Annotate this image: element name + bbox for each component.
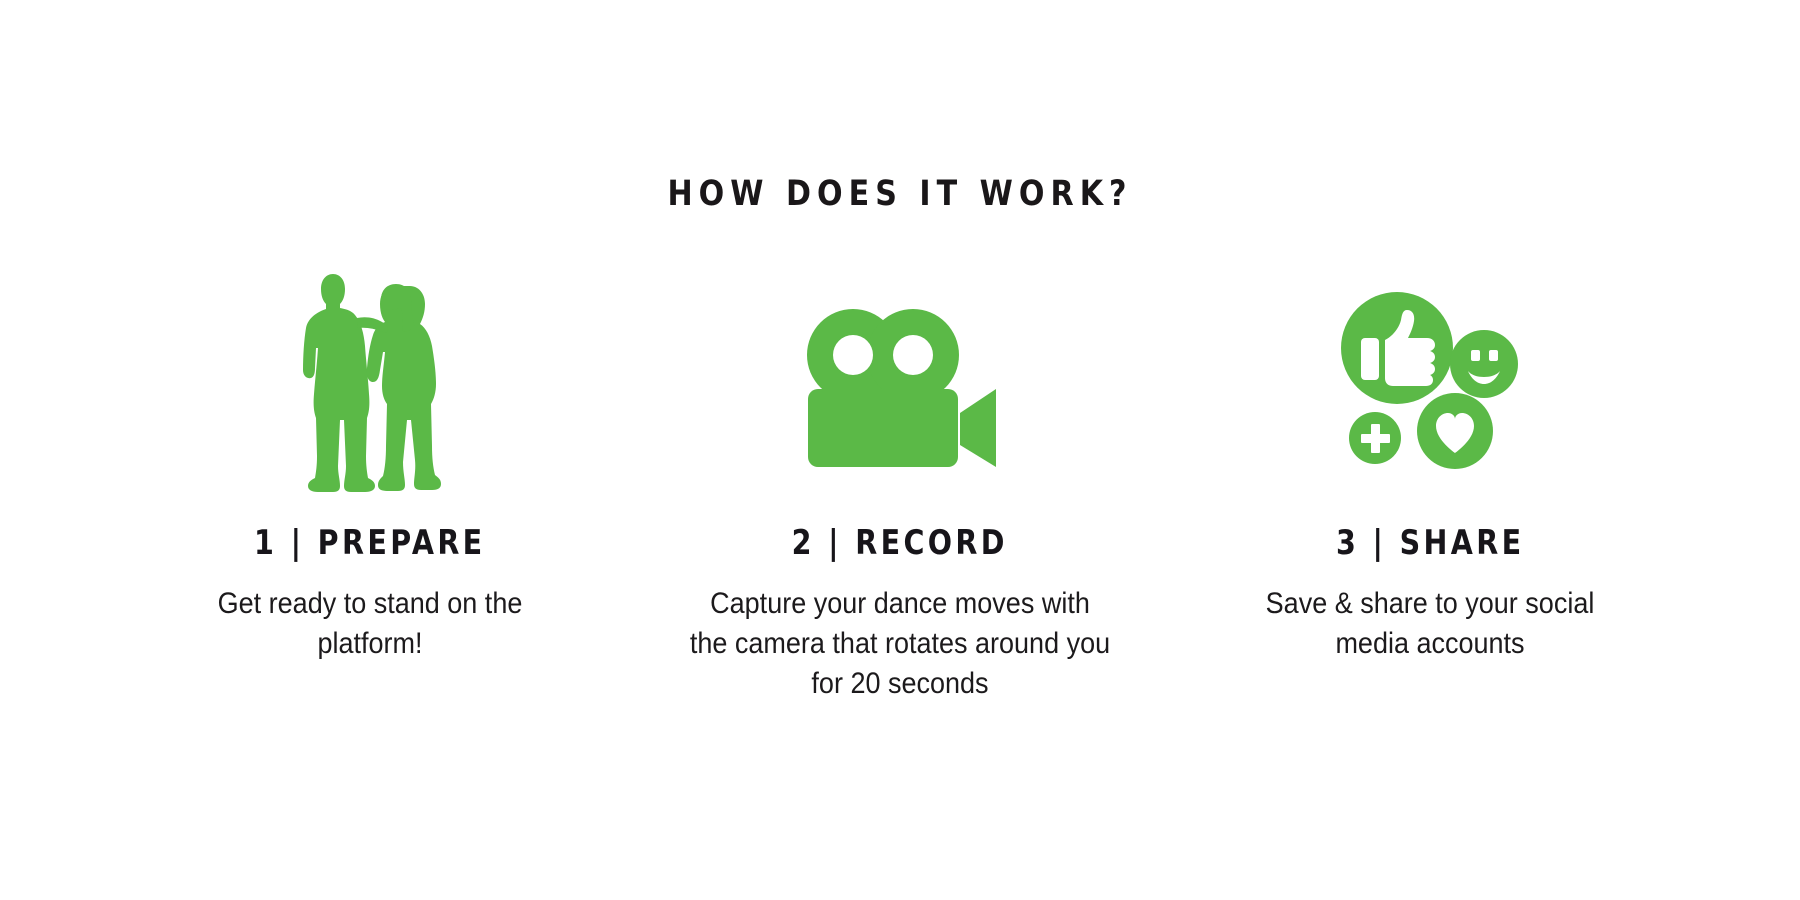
step-3-heading: 3 | SHARE: [1336, 522, 1525, 564]
step-3-body: Save & share to your social media accoun…: [1255, 584, 1606, 664]
step-card-prepare: 1 | PREPARE Get ready to stand on the pl…: [110, 250, 630, 664]
step-2-icon-area: [640, 250, 1160, 500]
social-reactions-icon: [1335, 288, 1525, 478]
couple-silhouette-icon: [295, 260, 445, 500]
step-card-record: 2 | RECORD Capture your dance moves with…: [640, 250, 1160, 704]
how-it-works-section: HOW DOES IT WORK? 1 |: [0, 0, 1800, 900]
step-1-icon-area: [110, 250, 630, 500]
plus-icon: [1349, 412, 1401, 464]
thumbs-up-icon: [1341, 292, 1453, 404]
smiley-face-icon: [1450, 330, 1518, 398]
step-3-icon-area: [1170, 250, 1690, 500]
step-card-share: 3 | SHARE Save & share to your social me…: [1170, 250, 1690, 664]
video-camera-icon: [800, 305, 1000, 470]
step-2-body: Capture your dance moves with the camera…: [689, 584, 1112, 704]
step-1-body: Get ready to stand on the platform!: [195, 584, 546, 664]
page-title: HOW DOES IT WORK?: [126, 172, 1674, 216]
steps-row: 1 | PREPARE Get ready to stand on the pl…: [110, 250, 1690, 704]
step-2-heading: 2 | RECORD: [792, 522, 1008, 564]
heart-icon: [1417, 393, 1493, 469]
step-1-heading: 1 | PREPARE: [254, 522, 485, 564]
